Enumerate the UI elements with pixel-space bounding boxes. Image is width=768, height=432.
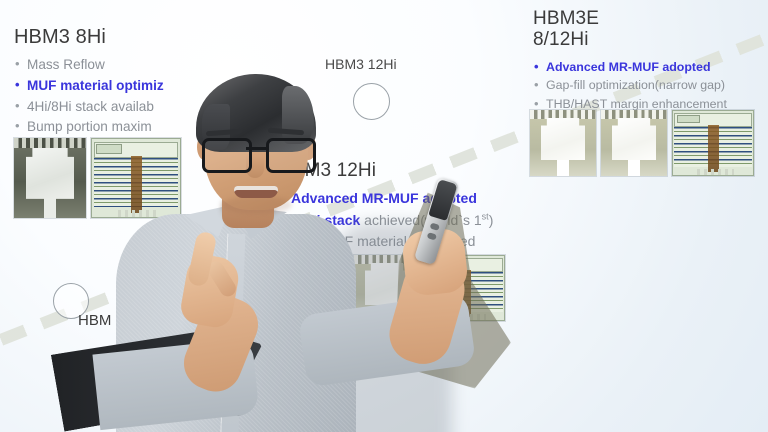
remote-button[interactable] — [427, 232, 437, 240]
chin-shadow — [222, 196, 292, 214]
panel-right-bullet-list: Advanced MR-MUF adopted Gap-fill optimiz… — [533, 58, 727, 115]
slide-canvas: HBM3 12Hi HBM HBM3 8Hi Mass Reflow MUF m… — [0, 0, 768, 432]
glasses-lens-right — [266, 138, 316, 173]
sem-cross-section-image — [601, 110, 667, 176]
eyeglasses — [200, 138, 314, 168]
list-item: Gap-fill optimization(narrow gap) — [533, 76, 727, 95]
remote-button[interactable] — [430, 223, 440, 231]
panel-hbm3e-8-12hi: HBM3E 8/12Hi Advanced MR-MUF adopted Gap… — [533, 8, 727, 114]
mouth — [234, 186, 278, 198]
panel-right-thumbnails — [530, 110, 754, 176]
list-item: Advanced MR-MUF adopted — [533, 58, 727, 77]
panel-right-title: HBM3E 8/12Hi — [533, 8, 727, 51]
sem-cross-section-image — [14, 138, 86, 218]
presenter-person — [96, 46, 516, 432]
hair-side — [282, 86, 314, 144]
sem-cross-section-image — [530, 110, 596, 176]
glasses-bridge — [246, 147, 268, 150]
glasses-lens-left — [202, 138, 252, 173]
stack-schematic-image — [672, 110, 754, 176]
